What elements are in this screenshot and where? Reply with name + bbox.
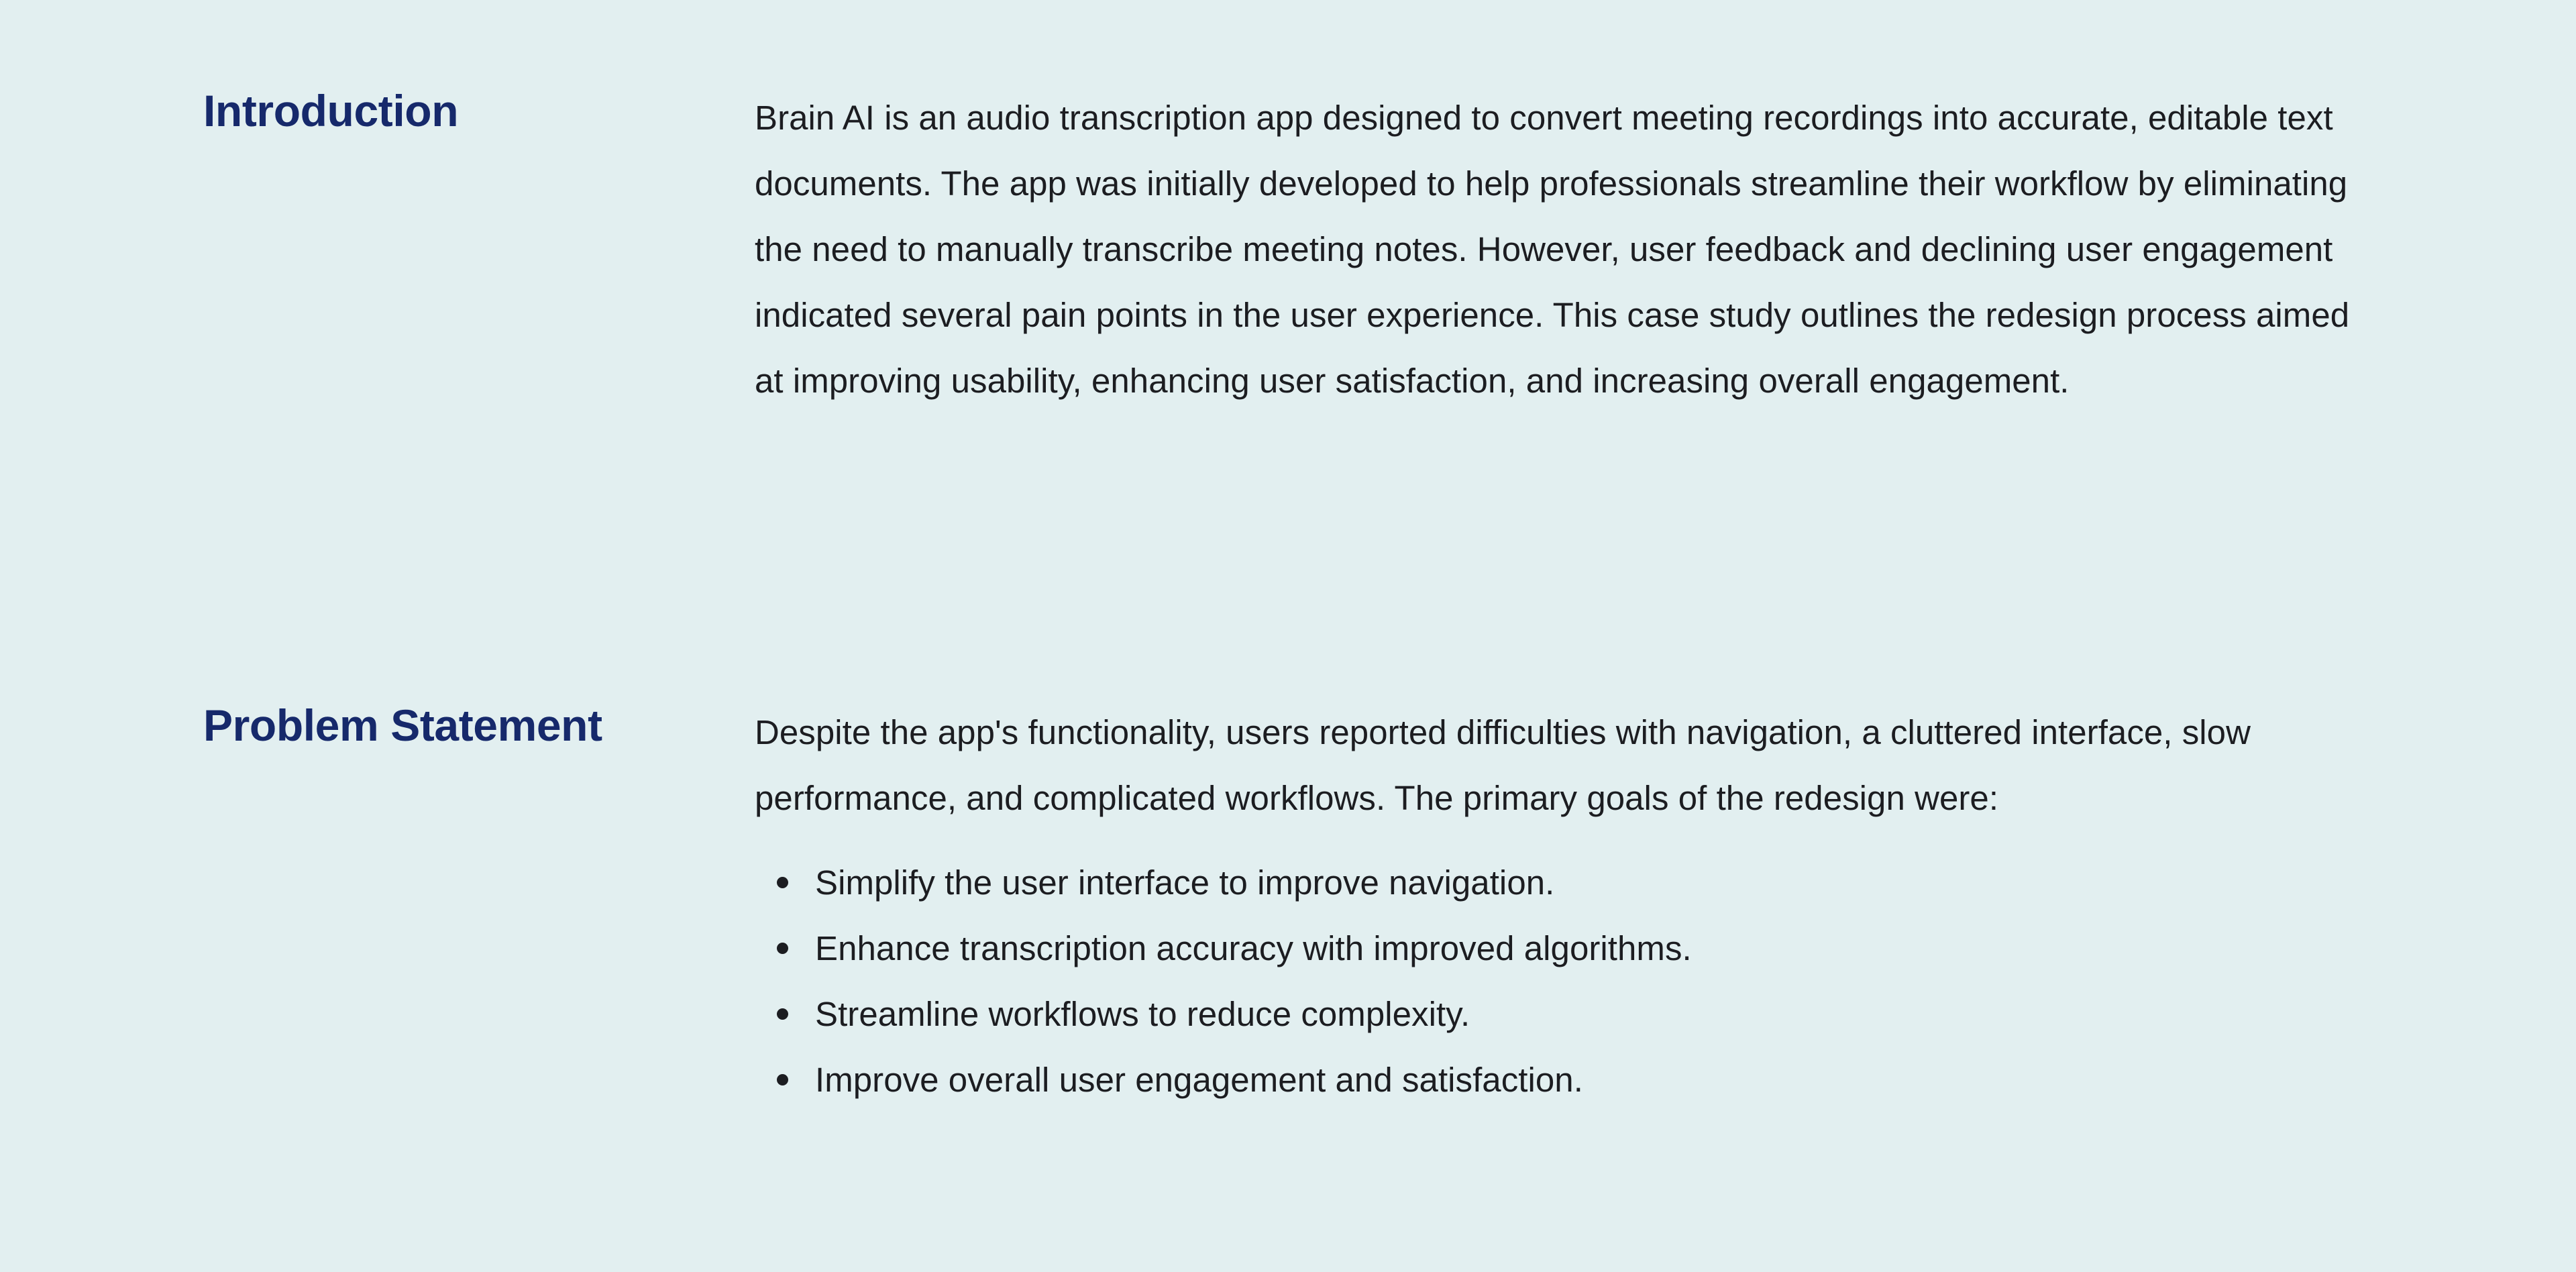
redesign-goals-list: Simplify the user interface to improve n…: [755, 850, 2385, 1113]
list-item-label: Simplify the user interface to improve n…: [815, 863, 1554, 902]
section-heading-introduction: Introduction: [203, 85, 755, 138]
section-body-introduction: Brain AI is an audio transcription app d…: [755, 85, 2385, 414]
section-problem-statement: Problem Statement Despite the app's func…: [203, 700, 2397, 1113]
list-item: Improve overall user engagement and sati…: [755, 1047, 2385, 1113]
list-item: Simplify the user interface to improve n…: [755, 850, 2385, 916]
section-heading-problem-statement: Problem Statement: [203, 700, 755, 752]
section-body-problem-statement: Despite the app's functionality, users r…: [755, 700, 2385, 1113]
case-study-page: Introduction Brain AI is an audio transc…: [0, 0, 2576, 1272]
list-item: Streamline workflows to reduce complexit…: [755, 982, 2385, 1047]
bullet-icon: [777, 1074, 788, 1085]
bullet-icon: [777, 1008, 788, 1020]
list-item-label: Enhance transcription accuracy with impr…: [815, 929, 1692, 967]
list-item-label: Streamline workflows to reduce complexit…: [815, 995, 1470, 1033]
introduction-paragraph: Brain AI is an audio transcription app d…: [755, 85, 2385, 414]
section-introduction: Introduction Brain AI is an audio transc…: [203, 85, 2397, 414]
problem-statement-paragraph: Despite the app's functionality, users r…: [755, 700, 2385, 831]
list-item: Enhance transcription accuracy with impr…: [755, 916, 2385, 982]
bullet-icon: [777, 943, 788, 954]
list-item-label: Improve overall user engagement and sati…: [815, 1061, 1583, 1099]
bullet-icon: [777, 877, 788, 888]
